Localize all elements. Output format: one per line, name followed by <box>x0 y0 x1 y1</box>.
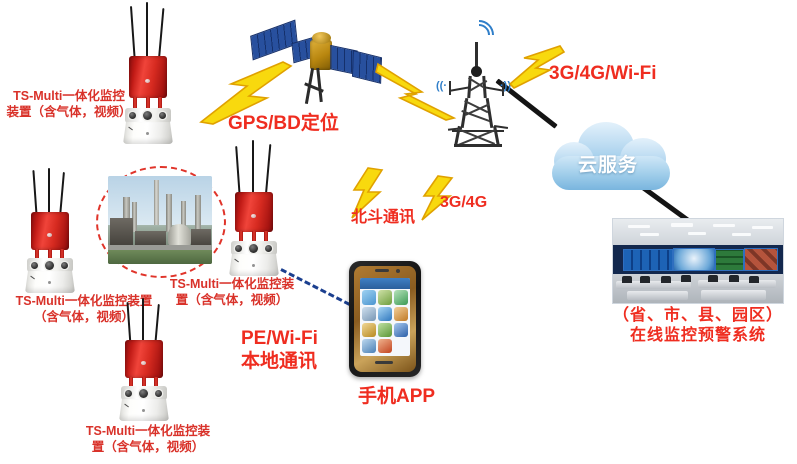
control-room-label-line2: 在线监控预警系统 <box>604 326 792 346</box>
monitoring-device-bottom-left[interactable] <box>108 300 180 424</box>
monitoring-device-top-left[interactable] <box>112 2 184 144</box>
control-room-label-line1: （省、市、县、园区） <box>604 306 792 326</box>
diagram-canvas: TS-Multi一体化监控 装置（含气体，视频） TS-Multi一体化监控装置… <box>0 0 797 464</box>
handheld-app-label: 手机APP <box>358 385 435 409</box>
wireless-3g4gwifi-label: 3G/4G/Wi-Fi <box>549 62 657 86</box>
monitoring-device-mid-right[interactable] <box>218 140 290 278</box>
chemical-plant-photo <box>108 176 212 264</box>
beidou-label: 北斗通讯 <box>351 208 415 228</box>
handheld-app-device[interactable] <box>349 261 421 377</box>
monitoring-device-mid-left[interactable] <box>14 170 86 298</box>
local-comm-label: PE/Wi-Fi 本地通讯 <box>241 328 318 374</box>
3g4g-label: 3G/4G <box>440 193 487 213</box>
lightning-satellite-tower-icon <box>376 62 462 122</box>
gps-bd-label: GPS/BD定位 <box>228 112 339 136</box>
control-room-photo <box>612 218 784 304</box>
device-top-left-label: TS-Multi一体化监控 装置（含气体，视频） <box>4 89 134 120</box>
cloud-service-label: 云服务 <box>578 150 638 177</box>
device-bottom-left-label: TS-Multi一体化监控装 置（含气体，视频） <box>72 424 224 455</box>
